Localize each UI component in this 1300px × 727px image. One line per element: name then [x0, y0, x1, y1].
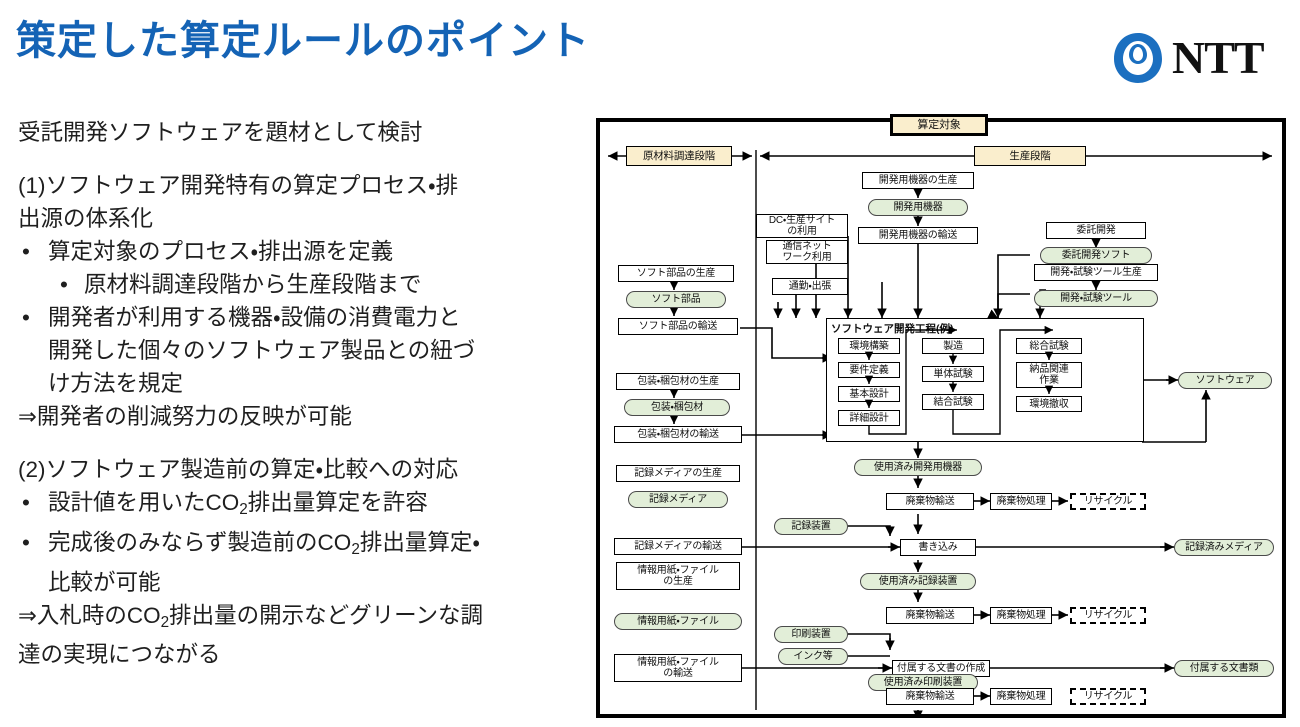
page-title: 策定した算定ルールのポイント — [16, 8, 590, 66]
slide-root: 策定した算定ルールのポイント NTT 受託開発ソフトウェアを題材として検討 (1… — [0, 0, 1300, 727]
node-pack: 包装・梱包材 — [624, 399, 730, 416]
section2-bullet-2-cont: 比較が可能 — [18, 566, 570, 599]
node-unit-test: 単体試験 — [922, 366, 984, 382]
section2-bullet-1: 設計値を用いたCO2排出量算定を許容 — [18, 486, 570, 526]
node-ink: インク等 — [778, 648, 848, 665]
node-dev-equip-transport: 開発用機器の輸送 — [858, 227, 978, 244]
node-dev-equip: 開発用機器 — [868, 199, 968, 216]
intro-line: 受託開発ソフトウェアを題材として検討 — [18, 116, 570, 149]
node-outsourced-soft: 委託開発ソフト — [1040, 247, 1152, 264]
node-waste-process-3: 廃棄物処理 — [990, 688, 1052, 705]
section1-bullet-3-cont1: 開発した個々のソフトウェア製品との紐づ — [18, 334, 570, 367]
node-waste-transport-1: 廃棄物輸送 — [886, 493, 974, 510]
s2b1-post: 排出量算定を許容 — [248, 490, 428, 515]
node-soft-parts: ソフト部品 — [626, 291, 726, 308]
node-tool-prod: 開発・試験ツール生産 — [1034, 264, 1158, 281]
ntt-circle-mark-icon — [1110, 30, 1166, 86]
node-delivery-work: 納品関連 作業 — [1016, 362, 1082, 388]
section1-bullet-3-cont2: け方法を規定 — [18, 367, 570, 400]
stage-production-label: 生産段階 — [974, 146, 1086, 166]
node-paper-transport: 情報用紙・ファイル の輸送 — [614, 654, 742, 682]
node-paper: 情報用紙・ファイル — [614, 613, 742, 630]
s2b2-sub: 2 — [351, 541, 360, 558]
node-env-teardown: 環境撤収 — [1016, 396, 1082, 412]
node-media-prod: 記録メディアの生産 — [616, 465, 740, 482]
node-dc-site-use: DC・生産サイト の利用 — [756, 214, 848, 238]
section1-bullet-3: 開発者が利用する機器・設備の消費電力と — [18, 301, 570, 334]
node-outsourced-dev: 委託開発 — [1046, 222, 1146, 239]
node-soft-parts-prod: ソフト部品の生産 — [618, 265, 734, 282]
node-recorded-media: 記録済みメディア — [1174, 539, 1274, 556]
node-attached-docs: 付属する文書類 — [1174, 660, 1274, 677]
section2-conclusion-cont: 達の実現につながる — [18, 638, 570, 671]
s2c-post: 排出量の開示などグリーンな調 — [169, 603, 483, 628]
node-waste-process-1: 廃棄物処理 — [990, 493, 1052, 510]
s2b1-sub: 2 — [239, 501, 248, 518]
section2-conclusion: ⇒入札時のCO2排出量の開示などグリーンな調 — [18, 599, 570, 639]
node-used-dev-equip: 使用済み開発用機器 — [854, 459, 982, 476]
node-paper-prod: 情報用紙・ファイル の生産 — [616, 562, 740, 590]
node-soft-parts-transport: ソフト部品の輸送 — [618, 318, 738, 335]
ntt-logo: NTT — [1110, 30, 1282, 86]
node-recycle-2: リサイクル — [1070, 607, 1146, 624]
node-media-transport: 記録メディアの輸送 — [614, 538, 742, 555]
node-env-build: 環境構築 — [838, 338, 900, 354]
s2b2-post: 排出量算定・ — [360, 530, 480, 555]
node-basic-design: 基本設計 — [838, 386, 900, 402]
emissions-flow-diagram: 算定対象 原材料調達段階 生産段階 開発用機器の生産 開発用機器 開発用機器の輸… — [596, 118, 1286, 718]
node-waste-transport-3: 廃棄物輸送 — [886, 688, 974, 705]
node-detail-design: 詳細設計 — [838, 410, 900, 426]
ntt-wordmark: NTT — [1172, 32, 1264, 84]
node-software-output: ソフトウェア — [1178, 372, 1272, 389]
node-dev-equip-prod: 開発用機器の生産 — [862, 172, 974, 189]
node-print-device: 印刷装置 — [774, 626, 848, 643]
node-media: 記録メディア — [628, 491, 728, 508]
section2-bullet-2: 完成後のみならず製造前のCO2排出量算定・ — [18, 526, 570, 566]
node-used-record-device: 使用済み記録装置 — [860, 573, 976, 590]
node-recycle-1: リサイクル — [1070, 493, 1146, 510]
node-waste-process-2: 廃棄物処理 — [990, 607, 1052, 624]
section1-heading-line2: 出源の体系化 — [18, 202, 570, 235]
node-system-test: 総合試験 — [1016, 338, 1082, 354]
section1-conclusion: ⇒開発者の削減努力の反映が可能 — [18, 400, 570, 433]
node-recycle-3: リサイクル — [1070, 688, 1146, 705]
node-tool: 開発・試験ツール — [1034, 290, 1158, 307]
scope-label: 算定対象 — [890, 114, 988, 136]
node-req-def: 要件定義 — [838, 362, 900, 378]
dev-process-group-title: ソフトウェア開発工程(例) — [831, 321, 954, 336]
node-commute-travel: 通勤・出張 — [772, 278, 848, 295]
node-integration-test: 結合試験 — [922, 394, 984, 410]
body-text: 受託開発ソフトウェアを題材として検討 (1)ソフトウェア開発特有の算定プロセス・… — [18, 116, 570, 671]
node-pack-prod: 包装・梱包材の生産 — [616, 373, 740, 390]
section2-heading: (2)ソフトウェア製造前の算定・比較への対応 — [18, 453, 570, 486]
node-record-device: 記録装置 — [774, 518, 848, 535]
s2b1-pre: 設計値を用いたCO — [48, 490, 239, 515]
node-write: 書き込み — [900, 539, 976, 556]
node-waste-transport-2: 廃棄物輸送 — [886, 607, 974, 624]
section1-bullet-1: 算定対象のプロセス・排出源を定義 — [18, 235, 570, 268]
s2c-pre: ⇒入札時のCO — [18, 603, 161, 628]
s2c-sub: 2 — [161, 613, 170, 630]
node-pack-transport: 包装・梱包材の輸送 — [614, 426, 742, 443]
node-network-use: 通信ネット ワーク利用 — [766, 240, 848, 264]
section1-heading-line1: (1)ソフトウェア開発特有の算定プロセス・排 — [18, 169, 570, 202]
node-manufacture: 製造 — [922, 338, 984, 354]
section1-bullet-2: 原材料調達段階から生産段階まで — [18, 268, 570, 301]
stage-raw-material-label: 原材料調達段階 — [626, 146, 732, 166]
s2b2-pre: 完成後のみならず製造前のCO — [48, 530, 351, 555]
